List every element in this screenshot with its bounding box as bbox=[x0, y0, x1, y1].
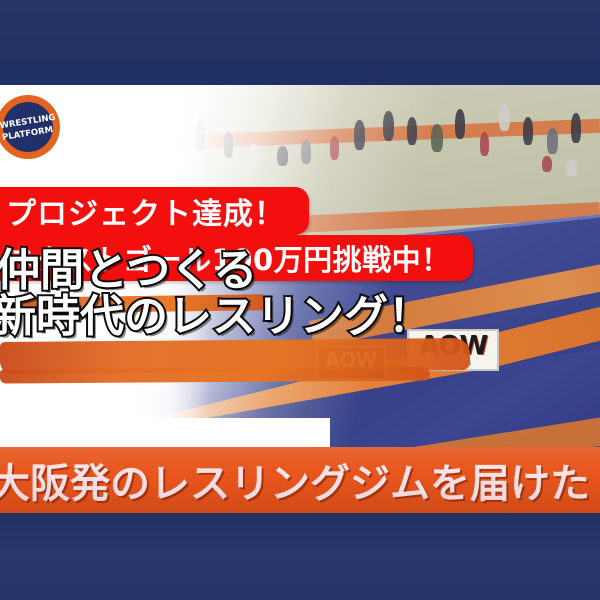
poster-root: AOW ALL or NOTHING AOW ALL or NOTHING WR… bbox=[0, 0, 600, 600]
red-banner-text-1: プロジェクト達成！ bbox=[6, 189, 285, 233]
main-headline: 仲間とつくる 新時代のレスリング！ bbox=[0, 248, 600, 340]
headline-line-1: 仲間とつくる bbox=[0, 248, 600, 294]
brush-stroke bbox=[0, 366, 430, 383]
bottom-strip-text: 大阪発のレスリングジムを届けた bbox=[0, 451, 590, 509]
white-spacer bbox=[0, 418, 330, 448]
wrestling-platform-logo: WRESTLING PLATFORM bbox=[0, 93, 62, 161]
bottom-orange-strip: 大阪発のレスリングジムを届けた bbox=[0, 447, 600, 513]
bottom-navy-band bbox=[0, 513, 600, 600]
red-banner-line-1: プロジェクト達成！ bbox=[0, 187, 309, 235]
top-navy-band bbox=[0, 0, 600, 85]
headline-line-2: 新時代のレスリング！ bbox=[0, 294, 600, 340]
